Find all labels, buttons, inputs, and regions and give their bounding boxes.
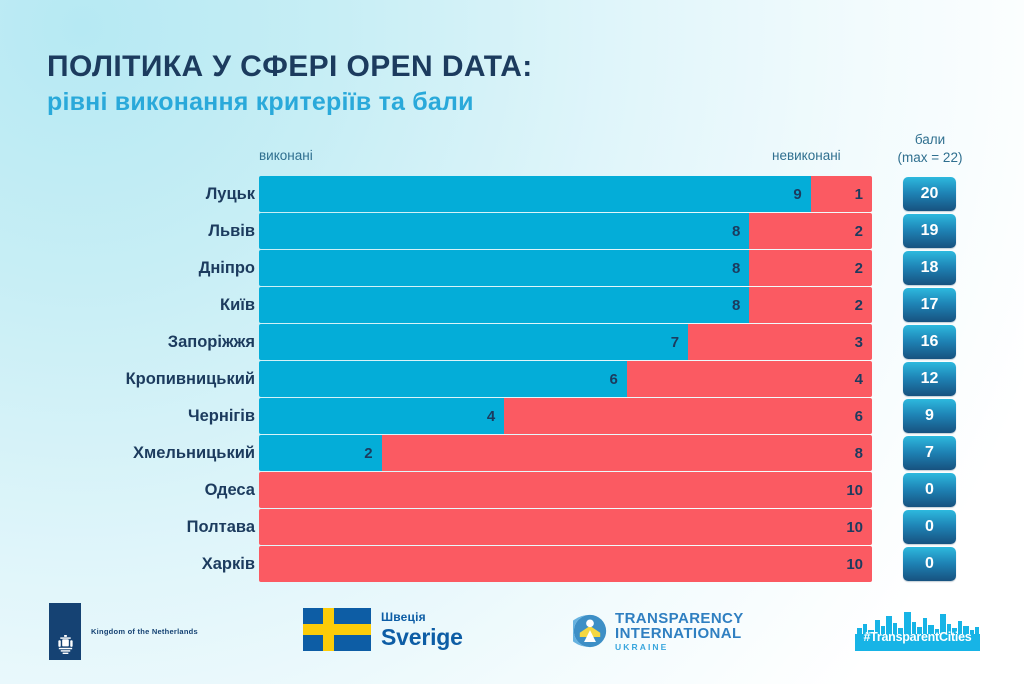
title-line-2: рівні виконання критеріїв та бали <box>47 87 533 117</box>
table-row: Дніпро8218 <box>0 250 1024 286</box>
bar-segment-done: 6 <box>259 361 627 397</box>
netherlands-blue-bar <box>49 603 81 660</box>
title-line-1: ПОЛІТИКА У СФЕРІ OPEN DATA: <box>47 50 533 84</box>
stacked-bar: 10 <box>259 546 872 582</box>
legend-label-done: виконані <box>259 148 313 163</box>
bar-segment-done: 8 <box>259 213 749 249</box>
bar-segment-not-done: 6 <box>504 398 872 434</box>
logo-transparent-cities: #TransparentCities <box>855 608 980 651</box>
netherlands-crest-icon <box>56 634 75 655</box>
stacked-bar: 64 <box>259 361 872 397</box>
score-badge: 12 <box>903 362 956 396</box>
stacked-bar: 91 <box>259 176 872 212</box>
bar-segment-done: 8 <box>259 287 749 323</box>
city-label: Харків <box>202 546 255 582</box>
table-row: Львів8219 <box>0 213 1024 249</box>
table-row: Хмельницький287 <box>0 435 1024 471</box>
footer-logos: Kingdom of the Netherlands Швеція Sverig… <box>0 594 1024 684</box>
score-badge: 0 <box>903 510 956 544</box>
table-row: Київ8217 <box>0 287 1024 323</box>
bar-segment-not-done: 3 <box>688 324 872 360</box>
transparent-cities-label: #TransparentCities <box>855 630 980 644</box>
transparency-line-1: TRANSPARENCY <box>615 611 744 626</box>
sweden-flag-horizontal-stripe <box>303 624 371 635</box>
stacked-bar: 10 <box>259 509 872 545</box>
score-badge: 18 <box>903 251 956 285</box>
logo-kingdom-of-the-netherlands: Kingdom of the Netherlands <box>49 603 198 660</box>
city-label: Львів <box>208 213 255 249</box>
netherlands-label: Kingdom of the Netherlands <box>91 627 198 636</box>
stacked-bar: 82 <box>259 287 872 323</box>
score-badge: 20 <box>903 177 956 211</box>
stacked-bar: 46 <box>259 398 872 434</box>
city-label: Київ <box>220 287 255 323</box>
sweden-flag-icon <box>303 608 371 651</box>
stacked-bar: 82 <box>259 213 872 249</box>
sweden-text: Швеція Sverige <box>381 611 463 649</box>
table-row: Запоріжжя7316 <box>0 324 1024 360</box>
legend-label-not-done: невиконані <box>772 148 841 163</box>
transparency-line-3: UKRAINE <box>615 643 744 652</box>
bar-segment-done: 8 <box>259 250 749 286</box>
stacked-bar: 10 <box>259 472 872 508</box>
bar-segment-not-done: 10 <box>259 472 872 508</box>
bar-segment-done: 7 <box>259 324 688 360</box>
stacked-bar: 82 <box>259 250 872 286</box>
city-label: Одеса <box>205 472 255 508</box>
city-label: Чернігів <box>188 398 255 434</box>
bar-segment-done: 9 <box>259 176 811 212</box>
city-label: Хмельницький <box>133 435 255 471</box>
bar-segment-done: 2 <box>259 435 382 471</box>
table-row: Полтава100 <box>0 509 1024 545</box>
bar-segment-done: 4 <box>259 398 504 434</box>
transparency-globe-icon <box>573 614 607 648</box>
city-label: Луцьк <box>206 176 255 212</box>
bar-segment-not-done: 10 <box>259 509 872 545</box>
bar-segment-not-done: 2 <box>749 250 872 286</box>
transparency-line-2: INTERNATIONAL <box>615 626 744 641</box>
score-column-header: бали (max = 22) <box>884 131 976 167</box>
table-row: Харків100 <box>0 546 1024 582</box>
city-label: Полтава <box>187 509 255 545</box>
table-row: Луцьк9120 <box>0 176 1024 212</box>
score-header-line-2: (max = 22) <box>884 149 976 167</box>
city-label: Кропивницький <box>126 361 255 397</box>
bar-segment-not-done: 2 <box>749 287 872 323</box>
stacked-bar: 73 <box>259 324 872 360</box>
bar-segment-not-done: 1 <box>811 176 872 212</box>
score-badge: 0 <box>903 547 956 581</box>
transparency-text: TRANSPARENCY INTERNATIONAL UKRAINE <box>615 611 744 652</box>
score-badge: 0 <box>903 473 956 507</box>
city-label: Запоріжжя <box>168 324 255 360</box>
score-header-line-1: бали <box>884 131 976 149</box>
score-badge: 7 <box>903 436 956 470</box>
logo-sweden: Швеція Sverige <box>303 608 463 651</box>
bar-segment-not-done: 2 <box>749 213 872 249</box>
city-label: Дніпро <box>199 250 255 286</box>
score-badge: 16 <box>903 325 956 359</box>
chart-rows: Луцьк9120Львів8219Дніпро8218Київ8217Запо… <box>0 176 1024 583</box>
logo-transparency-international-ukraine: TRANSPARENCY INTERNATIONAL UKRAINE <box>573 611 744 652</box>
bar-segment-not-done: 4 <box>627 361 872 397</box>
table-row: Чернігів469 <box>0 398 1024 434</box>
bar-segment-not-done: 10 <box>259 546 872 582</box>
stacked-bar: 28 <box>259 435 872 471</box>
page-title: ПОЛІТИКА У СФЕРІ OPEN DATA: рівні викона… <box>47 50 533 117</box>
sweden-label-sv: Sverige <box>381 626 463 649</box>
infographic-page: ПОЛІТИКА У СФЕРІ OPEN DATA: рівні викона… <box>0 0 1024 684</box>
table-row: Одеса100 <box>0 472 1024 508</box>
score-badge: 19 <box>903 214 956 248</box>
table-row: Кропивницький6412 <box>0 361 1024 397</box>
score-badge: 9 <box>903 399 956 433</box>
score-badge: 17 <box>903 288 956 322</box>
bar-segment-not-done: 8 <box>382 435 872 471</box>
sweden-label-uk: Швеція <box>381 611 463 623</box>
